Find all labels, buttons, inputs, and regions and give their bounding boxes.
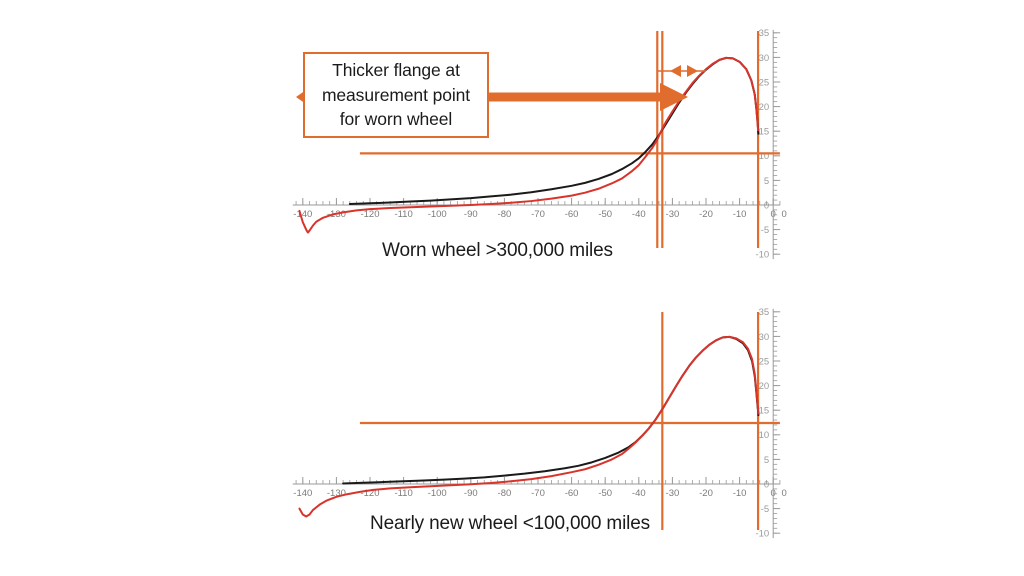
x-tick-label: -40 <box>632 209 646 220</box>
y-tick-label: 5 <box>764 455 769 466</box>
flange-gap-arrowhead-right <box>687 65 698 77</box>
callout-line-3: for worn wheel <box>340 109 452 129</box>
y-tick-label: -10 <box>755 529 769 540</box>
x-tick-label: -140 <box>293 488 312 499</box>
caption-new-wheel: Nearly new wheel <100,000 miles <box>370 513 650 535</box>
x-tick-label: -90 <box>464 488 478 499</box>
chart-new-wheel-profile: -140-130-120-110-100-90-80-70-60-50-40-3… <box>293 307 787 539</box>
callout-box: Thicker flange at measurement point for … <box>303 52 489 138</box>
x-tick-label: -140 <box>293 209 312 220</box>
caption-worn-wheel: Worn wheel >300,000 miles <box>382 240 613 262</box>
x-tick-label: -100 <box>428 488 447 499</box>
x-tick-label: -70 <box>531 488 545 499</box>
x-tick-label: -70 <box>531 209 545 220</box>
x-tick-label: -110 <box>394 209 412 220</box>
y-tick-label: 0 <box>764 479 769 490</box>
origin-label: 0 <box>782 209 787 220</box>
x-tick-label: -80 <box>498 209 512 220</box>
y-tick-label: 25 <box>759 356 770 367</box>
y-tick-label: 0 <box>764 200 769 211</box>
x-tick-label: -90 <box>464 209 478 220</box>
callout-text: Thicker flange at measurement point for … <box>316 58 476 133</box>
y-tick-label: 20 <box>759 102 770 113</box>
flange-gap-arrowhead-left <box>670 65 681 77</box>
y-tick-label: -10 <box>755 250 769 261</box>
x-tick-label: -20 <box>699 209 713 220</box>
y-tick-label: 20 <box>759 381 770 392</box>
x-tick-label: -10 <box>733 488 747 499</box>
wheel-profile-charts: -140-130-120-110-100-90-80-70-60-50-40-3… <box>0 0 1024 576</box>
x-tick-label: -30 <box>666 488 680 499</box>
x-tick-label: -60 <box>565 488 579 499</box>
y-tick-label: -5 <box>761 225 769 236</box>
x-tick-label: -80 <box>498 488 512 499</box>
y-tick-label: 15 <box>759 406 770 417</box>
x-tick-label: -50 <box>598 488 612 499</box>
y-tick-label: -5 <box>761 504 769 515</box>
x-tick-label: -10 <box>733 209 747 220</box>
y-tick-label: 25 <box>759 77 770 88</box>
x-tick-label: -20 <box>699 488 713 499</box>
x-tick-label: -110 <box>394 488 412 499</box>
callout-arrow-head <box>660 83 688 111</box>
x-tick-label: -100 <box>428 209 447 220</box>
y-tick-label: 35 <box>759 307 770 318</box>
y-tick-label: 30 <box>759 53 770 64</box>
slide-canvas: -140-130-120-110-100-90-80-70-60-50-40-3… <box>0 0 1024 576</box>
y-tick-label: 5 <box>764 176 769 187</box>
x-tick-label: -50 <box>598 209 612 220</box>
y-tick-label: 10 <box>759 430 770 441</box>
y-tick-label: 15 <box>759 127 770 138</box>
callout-line-2: measurement point <box>322 85 470 105</box>
x-tick-label: -40 <box>632 488 646 499</box>
x-tick-label: -30 <box>666 209 680 220</box>
origin-label: 0 <box>782 488 787 499</box>
callout-line-1: Thicker flange at <box>332 60 460 80</box>
x-tick-label: -60 <box>565 209 579 220</box>
y-tick-label: 30 <box>759 332 770 343</box>
y-tick-label: 35 <box>759 28 770 39</box>
